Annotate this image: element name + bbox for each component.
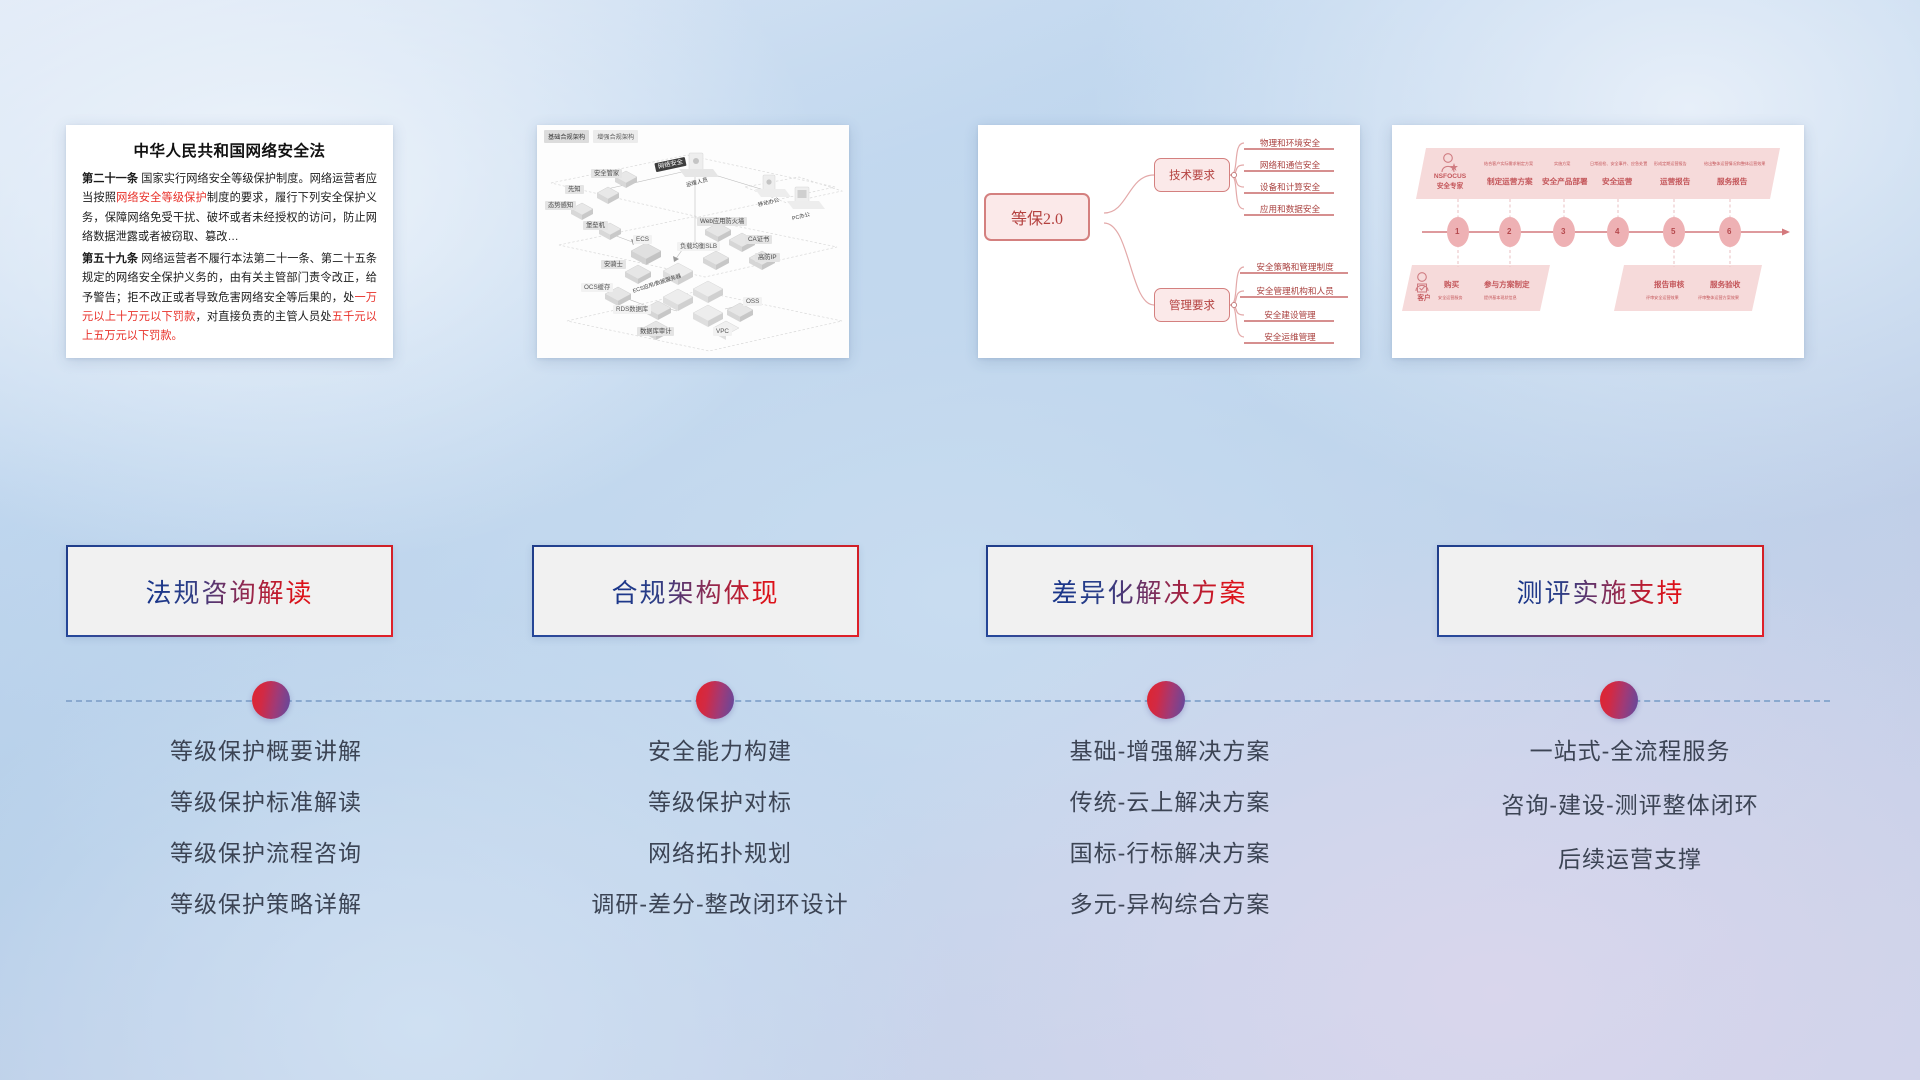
- list-item: 国标-行标解决方案: [970, 842, 1370, 865]
- section-title-row: 法规咨询解读 合规架构体现 差异化解决方案 测评实施支持: [0, 545, 1920, 645]
- flow-top-step-4-sub: 形成定期运营报告: [1654, 161, 1687, 167]
- node-label-anqishi: 安骑士: [601, 260, 626, 269]
- timeline-dot-1[interactable]: [252, 681, 290, 719]
- section-title-label-1: 法规咨询解读: [145, 573, 313, 610]
- list-item: 等级保护流程咨询: [66, 842, 466, 865]
- node-label-ocs-cache: OCS缓存: [581, 283, 613, 292]
- mindmap-leaf-org-personnel: 安全管理机构和人员: [1240, 285, 1350, 297]
- list-item: 调研-差分-整改闭环设计: [520, 893, 920, 916]
- mindmap-diagram: 等保2.0 技术要求 管理要求 物理和环境安全 网络和通信安全 设备和计算安全 …: [978, 125, 1360, 358]
- section-title-box-3[interactable]: 差异化解决方案: [986, 545, 1313, 637]
- list-item: 等级保护对标: [520, 791, 920, 814]
- node-label-ca-certificate: CA证书: [745, 235, 772, 244]
- flow-top-step-4-title: 运营报告: [1660, 176, 1690, 187]
- list-item: 安全能力构建: [520, 740, 920, 763]
- law-article-21: 第二十一条 国家实行网络安全等级保护制度。网络运营者应当按照网络安全等级保护制度…: [82, 170, 377, 247]
- list-item: 传统-云上解决方案: [970, 791, 1370, 814]
- flow-bottom-step-4-sub: 评审整体运营方案效果: [1698, 295, 1739, 301]
- mindmap-leaf-ops-mgmt: 安全运维管理: [1244, 331, 1336, 343]
- section-title-label-4: 测评实施支持: [1516, 573, 1684, 610]
- flow-number-4: 4: [1615, 227, 1619, 236]
- node-label-situational-awareness: 态势感知: [545, 201, 576, 210]
- node-label-xianzhi: 先知: [565, 185, 584, 194]
- list-item: 等级保护标准解读: [66, 791, 466, 814]
- mindmap-leaf-policy-system: 安全策略和管理制度: [1240, 261, 1350, 273]
- node-label-anti-ddos-ip: 高防IP: [755, 253, 780, 262]
- law-article-21-highlight: 网络安全等级保护: [116, 192, 207, 204]
- law-article-59-text-b: ，对直接负责的主管人员处: [196, 311, 332, 323]
- mindmap-leaf-app-data: 应用和数据安全: [1244, 203, 1336, 215]
- law-content: 中华人民共和国网络安全法 第二十一条 国家实行网络安全等级保护制度。网络运营者应…: [66, 125, 393, 357]
- section-title-label-2: 合规架构体现: [611, 573, 779, 610]
- service-flow-graphics: [1392, 125, 1804, 358]
- flow-top-step-1-title: 制定运营方案: [1487, 176, 1533, 187]
- service-flow-diagram: NSFOCUS 安全专家 制定运营方案 结合客户实际需求制定方案 安全产品部署 …: [1392, 125, 1804, 358]
- section-list-3: 基础-增强解决方案 传统-云上解决方案 国标-行标解决方案 多元-异构综合方案: [970, 740, 1370, 944]
- list-item: 等级保护概要讲解: [66, 740, 466, 763]
- flow-bottom-step-2-sub: 提供基本现状信息: [1484, 295, 1517, 301]
- node-label-web-application-firewall: Web应用防火墙: [697, 217, 747, 226]
- flow-bottom-step-3-title: 报告审核: [1654, 279, 1684, 290]
- flow-top-step-5-sub: 给出整体运营情况和整体运营效果: [1704, 161, 1765, 167]
- timeline: [0, 672, 1920, 732]
- law-title: 中华人民共和国网络安全法: [82, 139, 377, 161]
- mindmap-leaf-construction-mgmt: 安全建设管理: [1244, 309, 1336, 321]
- section-title-box-2[interactable]: 合规架构体现: [532, 545, 859, 637]
- list-item: 多元-异构综合方案: [970, 893, 1370, 916]
- section-list-1: 等级保护概要讲解 等级保护标准解读 等级保护流程咨询 等级保护策略详解: [66, 740, 466, 944]
- timeline-dot-3[interactable]: [1147, 681, 1185, 719]
- section-list-2: 安全能力构建 等级保护对标 网络拓扑规划 调研-差分-整改闭环设计: [520, 740, 920, 944]
- node-label-load-balancer-slb: 负载均衡SLB: [677, 242, 720, 251]
- section-title-label-3: 差异化解决方案: [1051, 573, 1247, 610]
- flow-bottom-step-1-title: 购买: [1444, 279, 1459, 290]
- section-title-box-4[interactable]: 测评实施支持: [1437, 545, 1764, 637]
- flow-brand-line1: NSFOCUS: [1424, 173, 1476, 181]
- flow-bottom-step-3-sub: 评审安全运营效果: [1646, 295, 1679, 301]
- flow-top-step-5-title: 服务报告: [1717, 176, 1747, 187]
- card-law[interactable]: 中华人民共和国网络安全法 第二十一条 国家实行网络安全等级保护制度。网络运营者应…: [66, 125, 393, 358]
- flow-customer-label: 客户: [1412, 295, 1436, 303]
- law-article-21-label: 第二十一条: [82, 173, 138, 185]
- cards-row: 中华人民共和国网络安全法 第二十一条 国家实行网络安全等级保护制度。网络运营者应…: [0, 125, 1920, 370]
- flow-number-1: 1: [1455, 227, 1459, 236]
- law-article-59: 第五十九条 网络运营者不履行本法第二十一条、第二十五条规定的网络安全保护义务的，…: [82, 250, 377, 346]
- flow-top-step-3-title: 安全运营: [1602, 176, 1632, 187]
- flow-top-step-2-title: 安全产品部署: [1542, 176, 1588, 187]
- timeline-dot-2[interactable]: [696, 681, 734, 719]
- poster-root: 中华人民共和国网络安全法 第二十一条 国家实行网络安全等级保护制度。网络运营者应…: [0, 0, 1920, 1080]
- section-title-box-1[interactable]: 法规咨询解读: [66, 545, 393, 637]
- flow-top-step-2-sub: 实施方案: [1554, 161, 1570, 167]
- flow-number-5: 5: [1671, 227, 1675, 236]
- law-article-59-label: 第五十九条: [82, 253, 138, 265]
- mindmap-branch-management: 管理要求: [1154, 288, 1230, 322]
- node-label-security-butler: 安全管家: [591, 169, 622, 178]
- section-lists-row: 等级保护概要讲解 等级保护标准解读 等级保护流程咨询 等级保护策略详解 安全能力…: [0, 740, 1920, 970]
- list-item: 网络拓扑规划: [520, 842, 920, 865]
- list-item: 后续运营支撑: [1420, 848, 1840, 871]
- node-label-oss: OSS: [743, 297, 762, 306]
- flow-number-3: 3: [1561, 227, 1565, 236]
- flow-top-step-1-sub: 结合客户实际需求制定方案: [1484, 161, 1533, 167]
- node-label-vpc: VPC: [713, 327, 732, 336]
- list-item: 等级保护策略详解: [66, 893, 466, 916]
- flow-number-2: 2: [1507, 227, 1511, 236]
- timeline-dot-4[interactable]: [1600, 681, 1638, 719]
- flow-bottom-step-2-title: 参与方案制定: [1484, 279, 1530, 290]
- section-list-4: 一站式-全流程服务 咨询-建设-测评整体闭环 后续运营支撑: [1420, 740, 1840, 902]
- flow-number-6: 6: [1727, 227, 1731, 236]
- list-item: 一站式-全流程服务: [1420, 740, 1840, 763]
- flow-top-step-3-sub: 日常巡检、安全事件、应急处置: [1590, 161, 1647, 167]
- mindmap-branch-technical: 技术要求: [1154, 158, 1230, 192]
- node-label-ecs: ECS: [633, 235, 652, 244]
- list-item: 基础-增强解决方案: [970, 740, 1370, 763]
- mindmap-root: 等保2.0: [984, 193, 1090, 241]
- node-label-bastion-host: 堡垒机: [583, 221, 608, 230]
- card-architecture[interactable]: 基础合规架构 增强合规架构: [537, 125, 849, 358]
- node-label-rds-database: RDS数据库: [613, 305, 651, 314]
- mindmap-leaf-physical-env: 物理和环境安全: [1244, 137, 1336, 149]
- card-service-flow[interactable]: NSFOCUS 安全专家 制定运营方案 结合客户实际需求制定方案 安全产品部署 …: [1392, 125, 1804, 358]
- mindmap-leaf-network-comm: 网络和通信安全: [1244, 159, 1336, 171]
- list-item: 咨询-建设-测评整体闭环: [1420, 794, 1840, 817]
- flow-bottom-step-1-sub: 安全运营服务: [1438, 295, 1463, 301]
- node-label-database-audit: 数据库审计: [637, 327, 674, 336]
- mindmap-leaf-device-compute: 设备和计算安全: [1244, 181, 1336, 193]
- flow-bottom-step-4-title: 服务验收: [1710, 279, 1740, 290]
- card-mindmap[interactable]: 等保2.0 技术要求 管理要求 物理和环境安全 网络和通信安全 设备和计算安全 …: [978, 125, 1360, 358]
- timeline-dashed-line: [66, 700, 1830, 702]
- architecture-diagram: 基础合规架构 增强合规架构: [537, 125, 849, 358]
- flow-brand-line2: 安全专家: [1424, 183, 1476, 191]
